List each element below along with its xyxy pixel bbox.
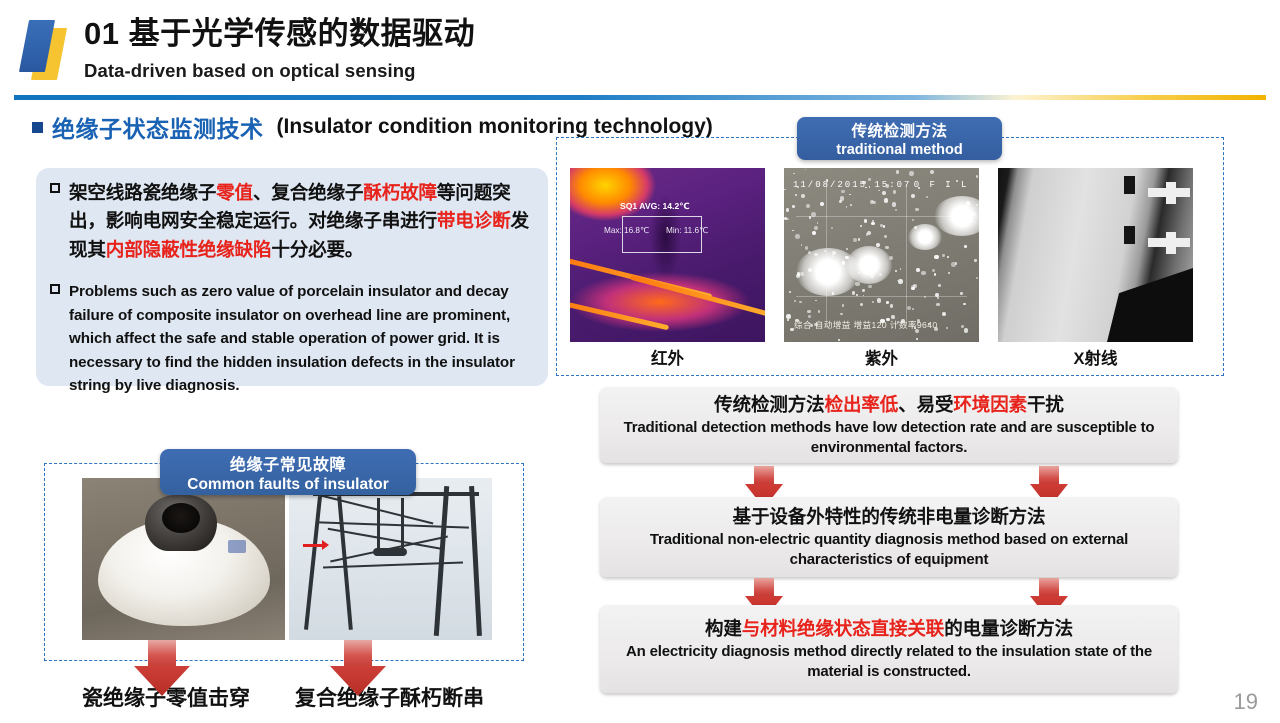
fault-caption-2: 复合绝缘子酥朽断串 xyxy=(295,682,484,712)
flow-box-1-en: Traditional detection methods have low d… xyxy=(612,418,1166,458)
faults-banner-cn: 绝缘子常见故障 xyxy=(230,451,346,475)
detection-image-row: SQ1 AVG: 14.2℃ Max: 16.8℃ Min: 11.6℃ 11/… xyxy=(570,168,1193,342)
uv-datetime-label: 11/08/2015 15:07 xyxy=(793,180,911,190)
page-number: 19 xyxy=(1234,689,1258,715)
description-en: Problems such as zero value of porcelain… xyxy=(50,280,536,398)
flow-box-1-cn: 传统检测方法检出率低、易受环境因素干扰 xyxy=(714,393,1064,416)
uv-noise-dots xyxy=(784,168,979,342)
uv-params-label: 综合 自动增益 增益120 计数率9640 xyxy=(794,319,938,331)
square-bullet-icon xyxy=(32,122,43,133)
uv-filter-label: 0 F I L xyxy=(914,180,969,190)
detection-caption-row: 红外 紫外 X射线 xyxy=(570,345,1210,369)
description-card: 架空线路瓷绝缘子零值、复合绝缘子酥朽故障等问题突出，影响电网安全稳定运行。对绝缘… xyxy=(36,168,548,386)
fault-photo-row xyxy=(82,478,492,640)
infrared-thermal-image: SQ1 AVG: 14.2℃ Max: 16.8℃ Min: 11.6℃ xyxy=(570,168,765,342)
ultraviolet-caption: 紫外 xyxy=(784,345,979,369)
infrared-max-label: Max: 16.8℃ xyxy=(604,225,649,235)
porcelain-insulator-photo xyxy=(82,478,285,640)
section-title-en: (Insulator condition monitoring technolo… xyxy=(277,115,713,139)
traditional-banner-en: traditional method xyxy=(836,142,962,158)
page-subtitle: Data-driven based on optical sensing xyxy=(84,60,416,82)
faults-banner-en: Common faults of insulator xyxy=(187,476,389,494)
fault-arrow-down-1 xyxy=(134,640,190,696)
page-title: 01 基于光学传感的数据驱动 xyxy=(84,17,475,51)
flow-box-2: 基于设备外特性的传统非电量诊断方法 Traditional non-electr… xyxy=(600,497,1178,577)
flow-box-2-cn: 基于设备外特性的传统非电量诊断方法 xyxy=(733,505,1046,528)
traditional-banner-cn: 传统检测方法 xyxy=(851,119,947,141)
flow-box-3-en: An electricity diagnosis method directly… xyxy=(612,642,1166,682)
hollow-square-bullet-icon xyxy=(50,183,60,193)
fault-arrow-down-2 xyxy=(330,640,386,696)
xray-caption: X射线 xyxy=(998,345,1193,369)
header-divider xyxy=(14,95,1266,100)
slide: 01 基于光学传感的数据驱动 Data-driven based on opti… xyxy=(0,0,1280,723)
description-en-text: Problems such as zero value of porcelain… xyxy=(69,280,536,398)
transmission-tower-photo xyxy=(289,478,492,640)
slide-logo-icon xyxy=(18,18,72,82)
section-title-cn: 绝缘子状态监测技术 xyxy=(52,110,264,144)
traditional-method-banner: 传统检测方法 traditional method xyxy=(797,117,1002,160)
infrared-avg-label: SQ1 AVG: 14.2℃ xyxy=(620,201,690,212)
ultraviolet-corona-image: 11/08/2015 15:07 0 F I L 综合 自动增益 增益120 计… xyxy=(784,168,979,342)
hollow-square-bullet-icon xyxy=(50,284,60,294)
infrared-caption: 红外 xyxy=(570,345,765,369)
common-faults-banner: 绝缘子常见故障 Common faults of insulator xyxy=(160,449,416,495)
flow-box-1: 传统检测方法检出率低、易受环境因素干扰 Traditional detectio… xyxy=(600,387,1178,463)
infrared-min-label: Min: 11.6℃ xyxy=(666,225,708,235)
description-cn: 架空线路瓷绝缘子零值、复合绝缘子酥朽故障等问题突出，影响电网安全稳定运行。对绝缘… xyxy=(50,179,534,264)
xray-image xyxy=(998,168,1193,342)
flow-box-3-cn: 构建与材料绝缘状态直接关联的电量诊断方法 xyxy=(705,617,1073,640)
flow-box-3: 构建与材料绝缘状态直接关联的电量诊断方法 An electricity diag… xyxy=(600,605,1178,693)
flow-box-2-en: Traditional non-electric quantity diagno… xyxy=(612,530,1166,570)
